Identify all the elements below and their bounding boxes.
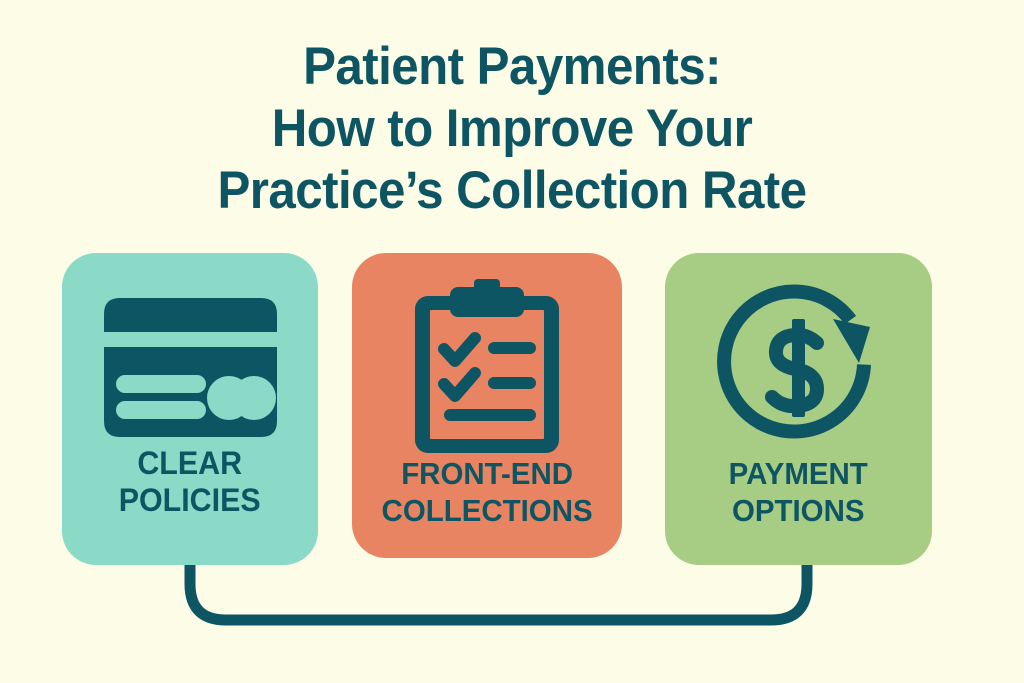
card-circle-right xyxy=(232,376,276,420)
refresh-arrowhead xyxy=(833,319,870,363)
card-clear-policies[interactable]: CLEAR POLICIES xyxy=(62,253,318,565)
card-label-line-1: PAYMENT xyxy=(729,455,868,492)
card-label-line-2: COLLECTIONS xyxy=(381,492,592,529)
check-icon-1 xyxy=(444,338,475,361)
title-line-2: How to Improve Your xyxy=(36,98,988,160)
card-label-line-1: FRONT-END xyxy=(381,455,592,492)
credit-card-icon xyxy=(98,293,283,445)
card-front-end-collections[interactable]: FRONT-END COLLECTIONS xyxy=(352,253,622,558)
card-label-line-1: CLEAR xyxy=(119,445,261,482)
page-title: Patient Payments: How to Improve Your Pr… xyxy=(0,36,1024,222)
card-label-line-2: OPTIONS xyxy=(729,492,868,529)
check-icon-2 xyxy=(444,373,475,396)
clipboard-line-3 xyxy=(444,409,536,421)
clipboard-line-2 xyxy=(488,377,536,389)
clipboard-line-1 xyxy=(488,342,536,354)
dollar-bar xyxy=(792,319,805,417)
card-label-front-end-collections: FRONT-END COLLECTIONS xyxy=(381,455,592,529)
title-line-1: Patient Payments: xyxy=(36,36,988,98)
title-line-3: Practice’s Collection Rate xyxy=(36,160,988,222)
card-payment-options[interactable]: PAYMENT OPTIONS xyxy=(665,253,932,565)
card-label-payment-options: PAYMENT OPTIONS xyxy=(729,455,868,529)
card-stripe xyxy=(104,298,277,332)
dollar-refresh-icon xyxy=(713,283,885,455)
card-label-clear-policies: CLEAR POLICIES xyxy=(119,445,261,519)
clipboard-clip-tab xyxy=(474,279,500,293)
infographic-root: Patient Payments: How to Improve Your Pr… xyxy=(0,0,1024,683)
clipboard-checklist-icon xyxy=(412,279,562,455)
clipboard-board xyxy=(415,296,559,453)
cards-row: CLEAR POLICIES xyxy=(0,253,1024,573)
card-label-line-2: POLICIES xyxy=(119,482,261,519)
